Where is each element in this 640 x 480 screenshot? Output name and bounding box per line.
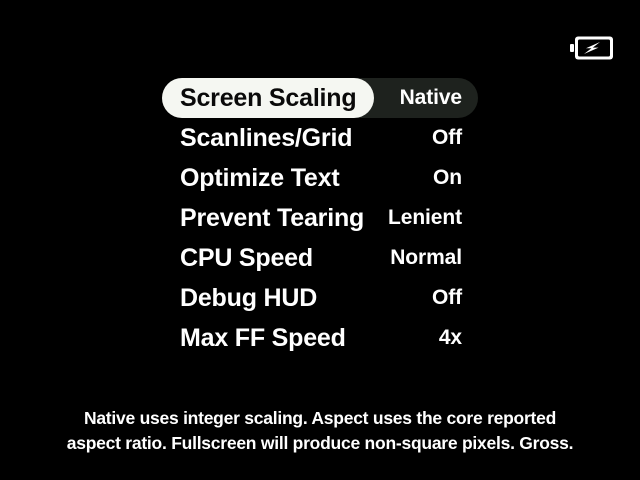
footer-help-text: Native uses integer scaling. Aspect uses… [0, 406, 640, 456]
menu-item-prevent-tearing[interactable]: Prevent Tearing Lenient [0, 198, 640, 238]
menu-item-debug-hud[interactable]: Debug HUD Off [0, 278, 640, 318]
menu-item-label: Debug HUD [180, 278, 317, 318]
menu-row-background: Prevent Tearing Lenient [162, 198, 478, 238]
menu-item-cpu-speed[interactable]: CPU Speed Normal [0, 238, 640, 278]
menu-item-label: Optimize Text [180, 158, 339, 198]
menu-row-background: Max FF Speed 4x [162, 318, 478, 358]
menu-item-value[interactable]: Lenient [388, 198, 462, 238]
menu-row-background: CPU Speed Normal [162, 238, 478, 278]
menu-item-value[interactable]: Normal [390, 238, 462, 278]
menu-row-background: Optimize Text On [162, 158, 478, 198]
menu-item-label: Screen Scaling [180, 78, 356, 118]
menu-item-label: Max FF Speed [180, 318, 346, 358]
menu-row-background: Debug HUD Off [162, 278, 478, 318]
battery-charging-icon [570, 36, 614, 60]
menu-item-value[interactable]: Off [432, 278, 462, 318]
menu-row-background: Scanlines/Grid Off [162, 118, 478, 158]
menu-item-value[interactable]: Off [432, 118, 462, 158]
menu-item-value[interactable]: 4x [439, 318, 462, 358]
status-bar [0, 0, 640, 78]
menu-item-scanlines-grid[interactable]: Scanlines/Grid Off [0, 118, 640, 158]
menu-item-value[interactable]: Native [400, 78, 462, 118]
menu-item-label: Prevent Tearing [180, 198, 364, 238]
menu-item-max-ff-speed[interactable]: Max FF Speed 4x [0, 318, 640, 358]
settings-menu-list: Screen Scaling Native Scanlines/Grid Off… [0, 78, 640, 358]
menu-item-screen-scaling[interactable]: Screen Scaling Native [0, 78, 640, 118]
menu-item-label: CPU Speed [180, 238, 313, 278]
footer-help-line-2: aspect ratio. Fullscreen will produce no… [0, 431, 640, 456]
menu-item-value[interactable]: On [433, 158, 462, 198]
menu-item-optimize-text[interactable]: Optimize Text On [0, 158, 640, 198]
menu-item-label: Scanlines/Grid [180, 118, 352, 158]
footer-help-line-1: Native uses integer scaling. Aspect uses… [0, 406, 640, 431]
menu-row-background: Screen Scaling Native [162, 78, 478, 118]
